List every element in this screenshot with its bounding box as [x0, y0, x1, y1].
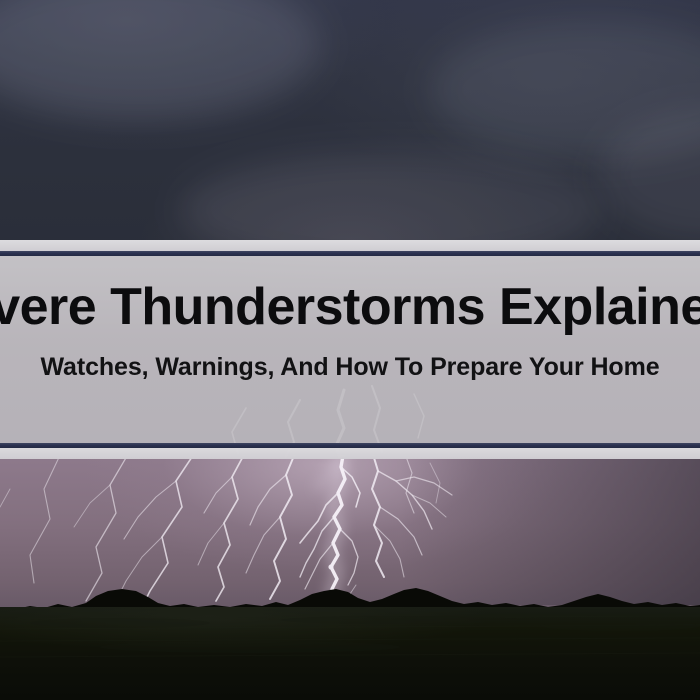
- banner-top-strip: [0, 240, 700, 251]
- hero-banner-image: vere Thunderstorms Explaine Watches, War…: [0, 0, 700, 700]
- title-banner: vere Thunderstorms Explaine Watches, War…: [0, 240, 700, 459]
- page-subtitle: Watches, Warnings, And How To Prepare Yo…: [20, 350, 680, 386]
- storm-sky-photo-upper: [0, 0, 700, 252]
- field-texture: [0, 607, 700, 700]
- page-subtitle-line-2: Your Home: [529, 353, 660, 381]
- banner-bottom-strip: [0, 448, 700, 459]
- cloud-wisp: [0, 0, 320, 120]
- page-title: vere Thunderstorms Explaine: [0, 281, 700, 333]
- page-subtitle-line-1: Watches, Warnings, And How To Prepare: [40, 353, 522, 381]
- banner-text-block: vere Thunderstorms Explaine Watches, War…: [0, 256, 700, 443]
- grass-field: [0, 607, 700, 700]
- lightning-storm-photo-lower: [0, 455, 700, 700]
